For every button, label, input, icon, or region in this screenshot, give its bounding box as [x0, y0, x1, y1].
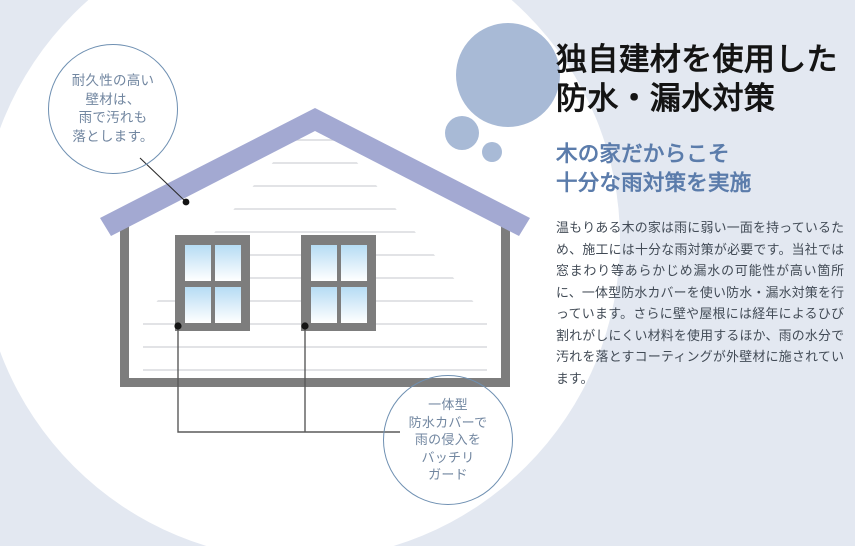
body-paragraph: 温もりある木の家は雨に弱い一面を持っているため、施工には十分な雨対策が必要です。…	[556, 217, 844, 389]
bubble-wall-line-3: 雨で汚れも	[79, 109, 148, 128]
sub-title-line-1: 木の家だからこそ	[556, 140, 844, 169]
text-column: 独自建材を使用した 防水・漏水対策 木の家だからこそ 十分な雨対策を実施 温もり…	[556, 40, 844, 389]
bubble-cover-line-3: 雨の侵入を	[415, 431, 481, 449]
sub-title: 木の家だからこそ 十分な雨対策を実施	[556, 140, 844, 198]
house-pillar-left	[120, 210, 129, 386]
main-title-line-1: 独自建材を使用した	[556, 40, 844, 79]
sub-title-line-2: 十分な雨対策を実施	[556, 169, 844, 198]
main-title-line-2: 防水・漏水対策	[556, 79, 844, 118]
leader-dot-window-left	[174, 322, 181, 329]
promo-banner: 耐久性の高い 壁材は、 雨で汚れも 落とします。 一体型 防水カバーで 雨の侵入…	[0, 0, 855, 546]
bubble-wall-line-4: 落とします。	[72, 128, 153, 147]
bubble-wall-line-1: 耐久性の高い	[72, 72, 155, 91]
callout-bubble-cover: 一体型 防水カバーで 雨の侵入を バッチリ ガード	[383, 375, 513, 505]
window-left	[175, 235, 250, 331]
bubble-cover-line-4: バッチリ	[421, 449, 474, 467]
callout-bubble-wall: 耐久性の高い 壁材は、 雨で汚れも 落とします。	[48, 44, 178, 174]
house-pillar-right	[501, 210, 510, 386]
bubble-cover-line-5: ガード	[428, 466, 468, 484]
bubble-wall-line-2: 壁材は、	[85, 91, 140, 110]
leader-dot-window-right	[301, 322, 308, 329]
bubble-cover-line-2: 防水カバーで	[409, 414, 488, 432]
window-right	[301, 235, 376, 331]
main-title: 独自建材を使用した 防水・漏水対策	[556, 40, 844, 118]
bubble-cover-line-1: 一体型	[428, 396, 468, 414]
